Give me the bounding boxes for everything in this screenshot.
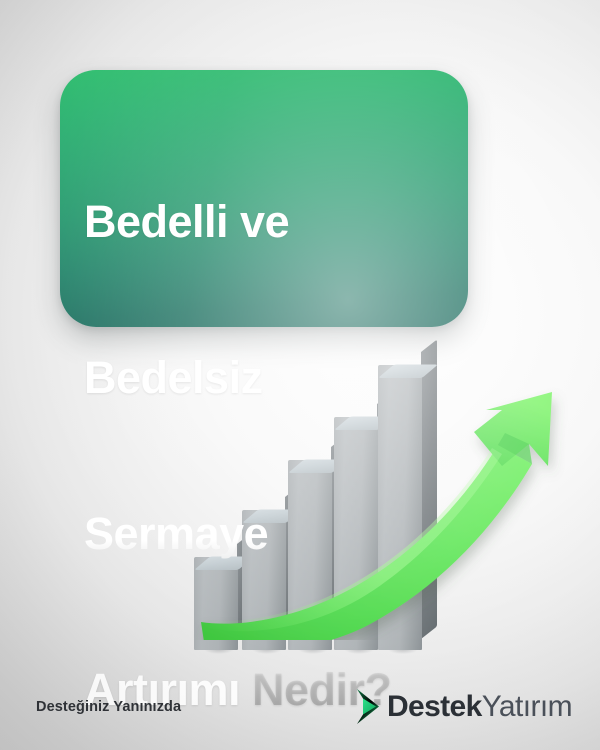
logo-wordmark: DestekYatırım [387, 692, 572, 722]
tagline: Desteğiniz Yanınızda [36, 699, 181, 715]
title-line-3: Sermaye [84, 508, 460, 560]
title-line-1: Bedelli ve [84, 196, 460, 248]
logo-name-bold: Destek [387, 690, 482, 723]
chevron-play-icon [354, 688, 384, 726]
page-title: Bedelli ve Bedelsiz Sermaye Artırımı Ned… [84, 92, 460, 750]
title-line-2: Bedelsiz [84, 352, 460, 404]
poster-canvas: Bedelli ve Bedelsiz Sermaye Artırımı Ned… [0, 0, 600, 750]
brand-logo[interactable]: DestekYatırım [354, 687, 572, 727]
logo-name-light: Yatırım [482, 690, 572, 723]
title-card: Bedelli ve Bedelsiz Sermaye Artırımı Ned… [60, 70, 468, 327]
